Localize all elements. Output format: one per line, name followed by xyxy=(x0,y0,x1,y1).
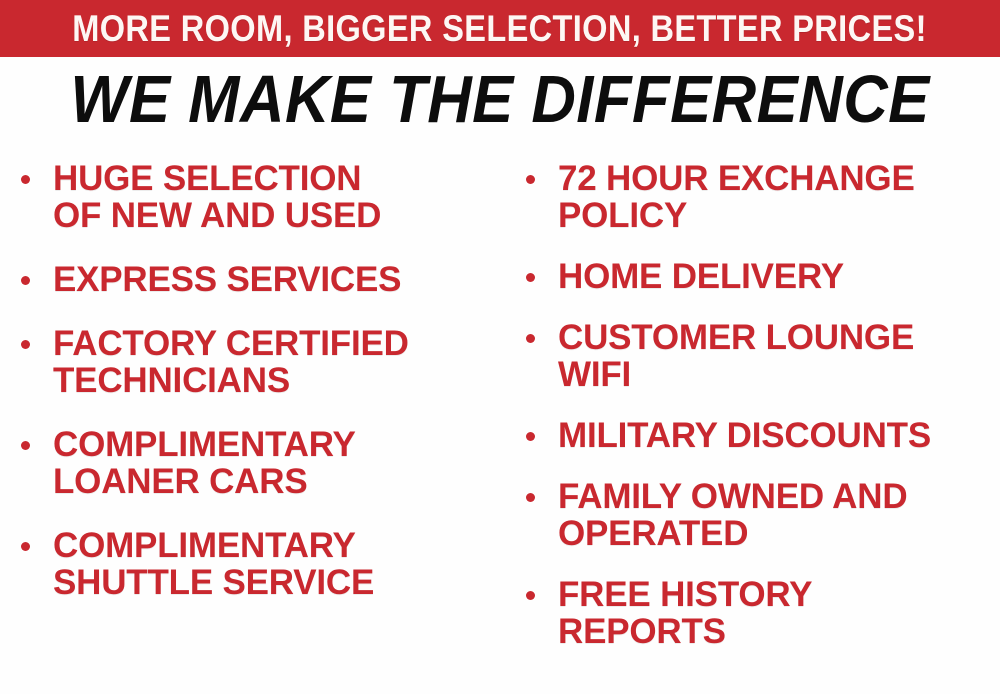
bullet-dot-icon xyxy=(526,591,535,600)
bullet-dot-icon xyxy=(21,441,30,450)
list-item: COMPLIMENTARY LOANER CARS xyxy=(17,426,496,500)
list-item: CUSTOMER LOUNGE WIFI xyxy=(522,319,1000,393)
benefits-column-right: 72 HOUR EXCHANGE POLICY HOME DELIVERY CU… xyxy=(500,160,1000,674)
list-item: HOME DELIVERY xyxy=(522,258,1000,295)
bullet-dot-icon xyxy=(21,340,30,349)
list-item-label: COMPLIMENTARY LOANER CARS xyxy=(53,426,496,500)
list-item: COMPLIMENTARY SHUTTLE SERVICE xyxy=(17,527,496,601)
list-item: FAMILY OWNED AND OPERATED xyxy=(522,478,1000,552)
list-item: HUGE SELECTION OF NEW AND USED xyxy=(17,160,496,234)
banner-headline-text: MORE ROOM, BIGGER SELECTION, BETTER PRIC… xyxy=(73,10,928,47)
list-item: FREE HISTORY REPORTS xyxy=(522,576,1000,650)
bullet-dot-icon xyxy=(526,432,535,441)
list-item-label: FAMILY OWNED AND OPERATED xyxy=(558,478,1000,552)
list-item-label: CUSTOMER LOUNGE WIFI xyxy=(558,319,1000,393)
list-item-label: HOME DELIVERY xyxy=(558,258,1000,295)
bullet-dot-icon xyxy=(21,542,30,551)
bullet-dot-icon xyxy=(21,175,30,184)
list-item-label: COMPLIMENTARY SHUTTLE SERVICE xyxy=(53,527,496,601)
list-item-label: FACTORY CERTIFIED TECHNICIANS xyxy=(53,325,496,399)
list-item-label: MILITARY DISCOUNTS xyxy=(558,417,1000,454)
promo-poster: MORE ROOM, BIGGER SELECTION, BETTER PRIC… xyxy=(0,0,1000,694)
list-item: FACTORY CERTIFIED TECHNICIANS xyxy=(17,325,496,399)
list-item: 72 HOUR EXCHANGE POLICY xyxy=(522,160,1000,234)
top-banner: MORE ROOM, BIGGER SELECTION, BETTER PRIC… xyxy=(0,0,1000,57)
main-headline: WE MAKE THE DIFFERENCE xyxy=(0,66,1000,133)
bullet-dot-icon xyxy=(21,276,30,285)
bullet-dot-icon xyxy=(526,334,535,343)
main-headline-text: WE MAKE THE DIFFERENCE xyxy=(70,66,929,133)
list-item: EXPRESS SERVICES xyxy=(17,261,496,298)
list-item: MILITARY DISCOUNTS xyxy=(522,417,1000,454)
list-item-label: HUGE SELECTION OF NEW AND USED xyxy=(53,160,496,234)
benefits-column-left: HUGE SELECTION OF NEW AND USED EXPRESS S… xyxy=(0,160,500,628)
list-item-label: FREE HISTORY REPORTS xyxy=(558,576,1000,650)
benefits-columns: HUGE SELECTION OF NEW AND USED EXPRESS S… xyxy=(0,160,1000,694)
list-item-label: 72 HOUR EXCHANGE POLICY xyxy=(558,160,1000,234)
bullet-dot-icon xyxy=(526,493,535,502)
list-item-label: EXPRESS SERVICES xyxy=(53,261,496,298)
bullet-dot-icon xyxy=(526,175,535,184)
bullet-dot-icon xyxy=(526,273,535,282)
